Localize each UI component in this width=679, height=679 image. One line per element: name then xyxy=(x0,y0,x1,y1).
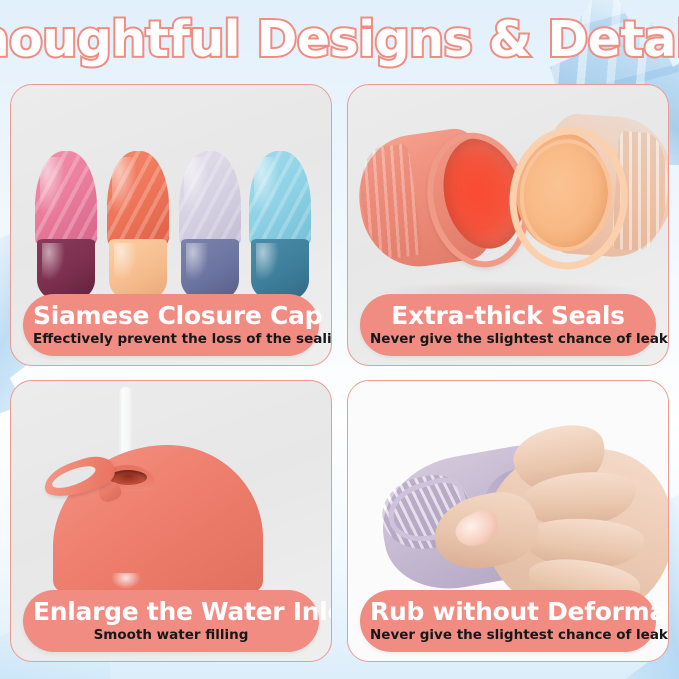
cap-top-lavender xyxy=(179,151,241,247)
cap-bottom-gloss xyxy=(186,243,209,281)
cap-gloss-highlight xyxy=(254,157,279,217)
panel-extra-thick-seals: Extra-thick Seals Never give the slighte… xyxy=(347,84,669,366)
caption-subtitle: Never give the slightest chance of leaka… xyxy=(370,331,646,348)
caption-title: Extra-thick Seals xyxy=(370,301,646,330)
cap-bottom-gloss xyxy=(42,243,65,281)
cap-top-pink xyxy=(35,151,97,247)
product-blue-cap xyxy=(249,151,311,301)
product-coral-cap xyxy=(107,151,169,301)
caption-rub-without-deformation: Rub without Deformation Never give the s… xyxy=(360,590,656,652)
caption-subtitle: Never give the slightest chance of leaka… xyxy=(370,627,646,644)
header: Thoughtful Designs & Details xyxy=(0,8,679,70)
cap-group xyxy=(35,121,311,301)
caption-siamese-closure-cap: Siamese Closure Cap Effectively prevent … xyxy=(23,294,319,356)
caption-subtitle: Smooth water filling xyxy=(33,627,309,644)
panel-siamese-closure-cap: Siamese Closure Cap Effectively prevent … xyxy=(10,84,332,366)
panel-enlarge-the-water-inlet: Enlarge the Water Inlet Smooth water fil… xyxy=(10,380,332,662)
product-lavender-cap xyxy=(179,151,241,301)
caption-title: Enlarge the Water Inlet xyxy=(33,597,309,626)
caption-title: Siamese Closure Cap xyxy=(33,301,309,330)
cap-bottom-gloss xyxy=(256,243,279,281)
cap-bottom-teal xyxy=(251,239,309,301)
cap-gloss-highlight xyxy=(184,157,209,217)
cap-gloss-highlight xyxy=(40,157,65,217)
page-title: Thoughtful Designs & Details xyxy=(0,11,679,68)
caption-enlarge-the-water-inlet: Enlarge the Water Inlet Smooth water fil… xyxy=(23,590,319,652)
cap-top-lightblue xyxy=(249,151,311,247)
caption-title: Rub without Deformation xyxy=(370,597,646,626)
panel-rub-without-deformation: Rub without Deformation Never give the s… xyxy=(347,380,669,662)
cap-bottom-slate xyxy=(181,239,239,301)
cap-bottom-peach xyxy=(109,239,167,301)
product-peach-bottle xyxy=(502,105,668,281)
cap-bottom-gloss xyxy=(114,243,137,281)
cap-top-coral xyxy=(107,151,169,247)
caption-subtitle: Effectively prevent the loss of the seal… xyxy=(33,331,309,348)
caption-extra-thick-seals: Extra-thick Seals Never give the slighte… xyxy=(360,294,656,356)
infographic-canvas: Thoughtful Designs & Details xyxy=(0,0,679,679)
thumb-nail xyxy=(451,505,505,553)
cap-gloss-highlight xyxy=(112,157,137,217)
cap-bottom-maroon xyxy=(37,239,95,301)
product-pink-cap xyxy=(35,151,97,301)
water-splash-highlight xyxy=(111,573,141,589)
feature-panel-grid: Siamese Closure Cap Effectively prevent … xyxy=(10,84,669,670)
